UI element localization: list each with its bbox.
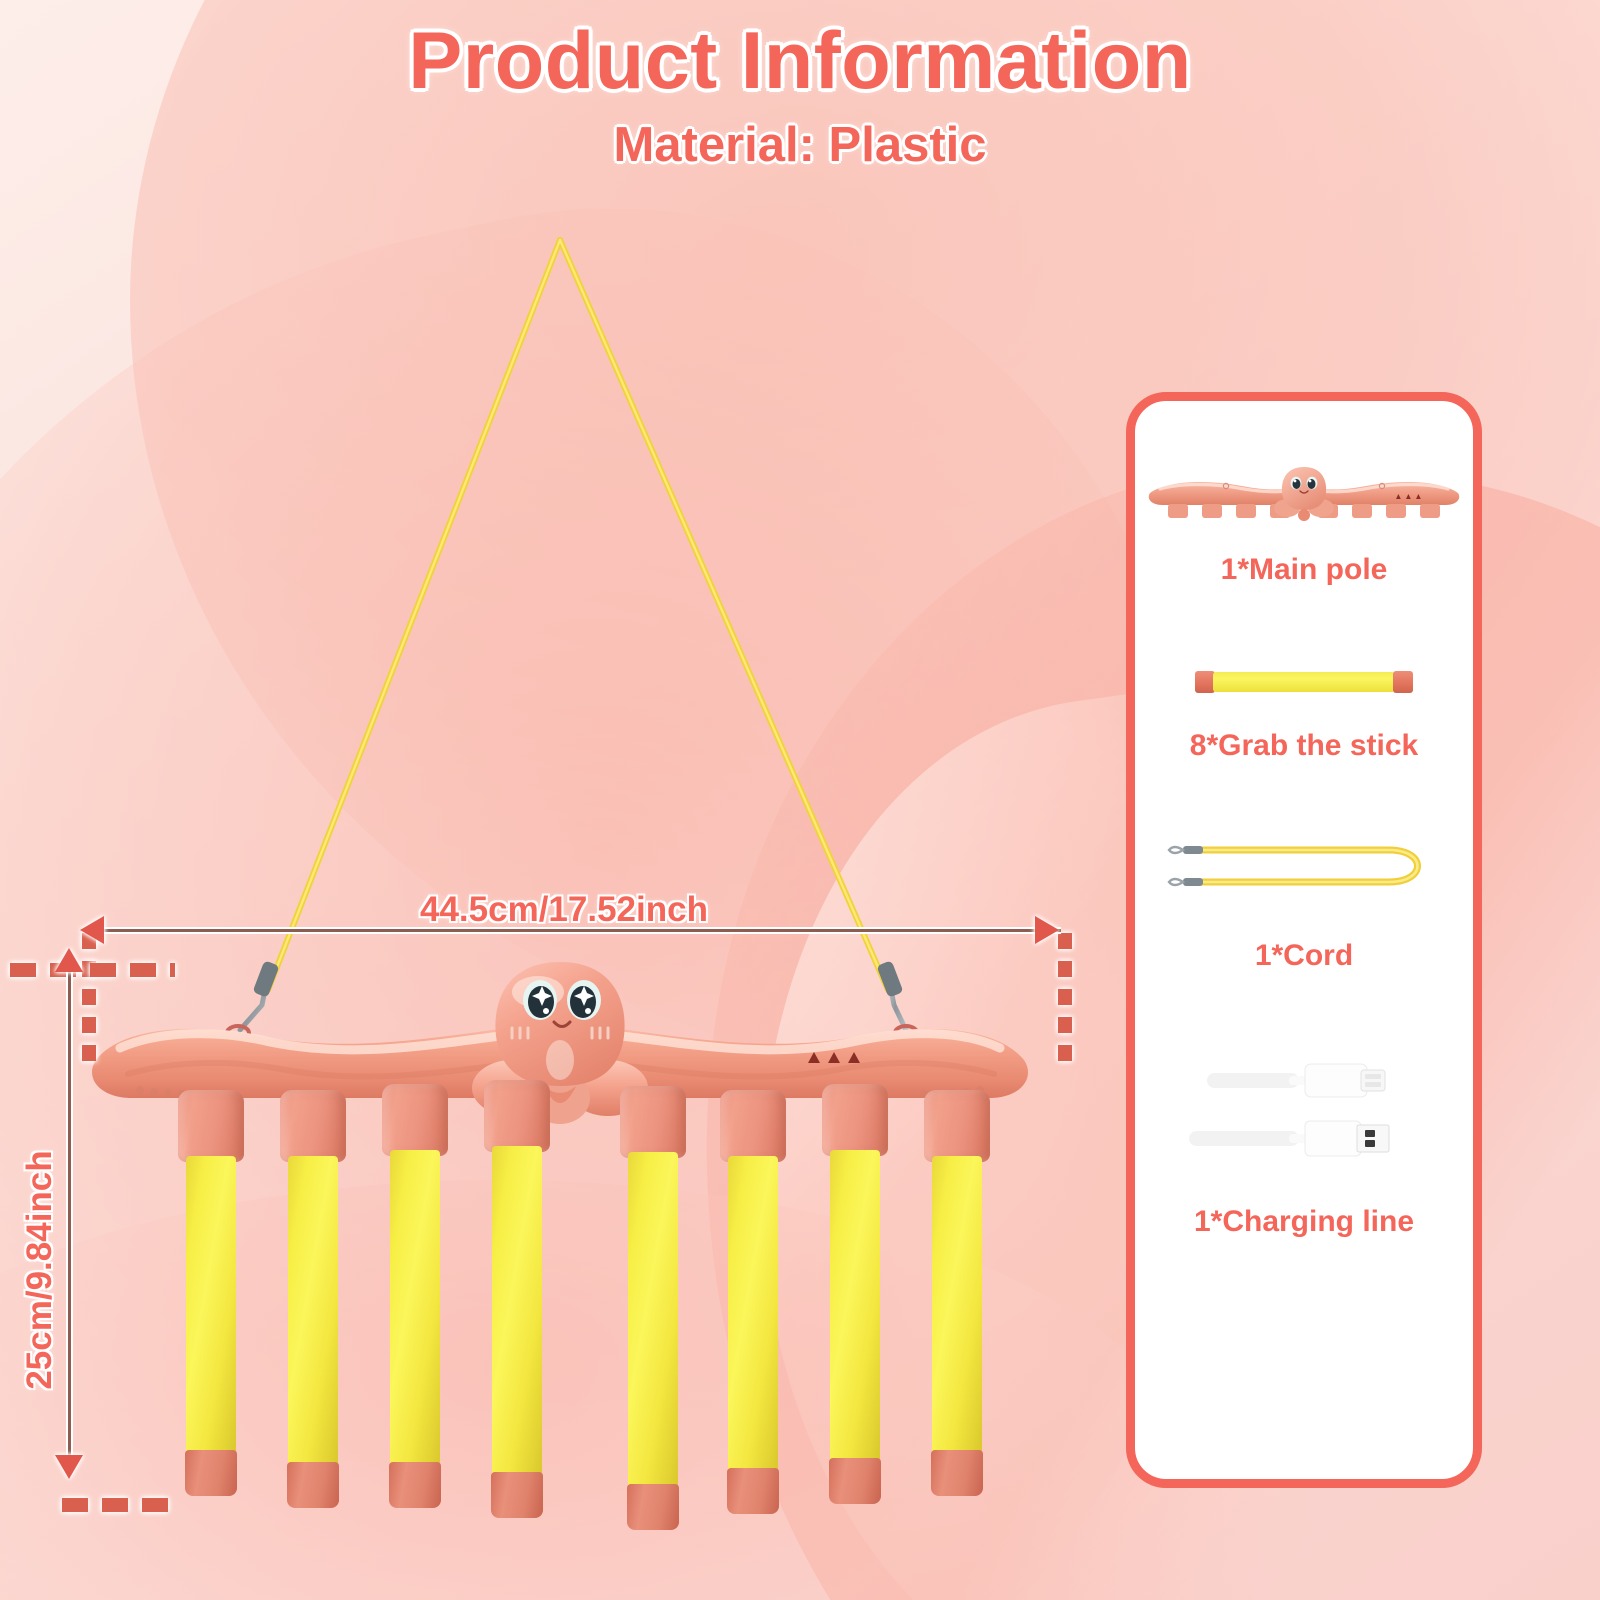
height-arrow-down-icon (55, 1455, 83, 1479)
height-dimension-line (66, 960, 73, 1470)
part-label-charging-line: 1*Charging line (1194, 1205, 1414, 1239)
part-item-cord: 1*Cord (1135, 763, 1473, 973)
parts-list-panel: 1*Main pole 8*Grab the stick (1126, 392, 1482, 1488)
product-illustration (0, 0, 1110, 1560)
material-subtitle: Material: Plastic (0, 117, 1600, 173)
dimension-guide-top (10, 963, 175, 977)
grab-stick-row (80, 1020, 1080, 1140)
part-item-grab-stick: 8*Grab the stick (1135, 587, 1473, 763)
part-item-charging-line: 1*Charging line (1135, 973, 1473, 1239)
part-label-cord: 1*Cord (1255, 939, 1353, 973)
part-item-main-pole: 1*Main pole (1135, 401, 1473, 587)
dimension-guide-right (1058, 933, 1072, 1063)
height-dimension-label: 25cm/9.84inch (20, 1120, 60, 1420)
header-block: Product Information Material: Plastic (0, 18, 1600, 173)
part-label-main-pole: 1*Main pole (1221, 553, 1388, 587)
part-label-grab-stick: 8*Grab the stick (1190, 729, 1418, 763)
page-title: Product Information (0, 18, 1600, 105)
grab-stick-icon (1195, 671, 1413, 693)
cord-loop-icon (1159, 835, 1449, 897)
usb-a-connector (1189, 1121, 1389, 1156)
octopus-main-pole-icon (1144, 459, 1464, 523)
infographic-canvas: Product Information Material: Plastic (0, 0, 1600, 1600)
width-dimension-label: 44.5cm/17.52inch (420, 890, 708, 930)
dimension-guide-bottom (62, 1498, 182, 1512)
height-arrow-up-icon (55, 948, 83, 972)
usb-charging-cable-icon (1189, 1051, 1419, 1171)
width-arrow-right-icon (1035, 916, 1059, 944)
dimension-guide-left (82, 933, 96, 1063)
width-arrow-left-icon (80, 916, 104, 944)
micro-usb-connector (1207, 1064, 1385, 1097)
